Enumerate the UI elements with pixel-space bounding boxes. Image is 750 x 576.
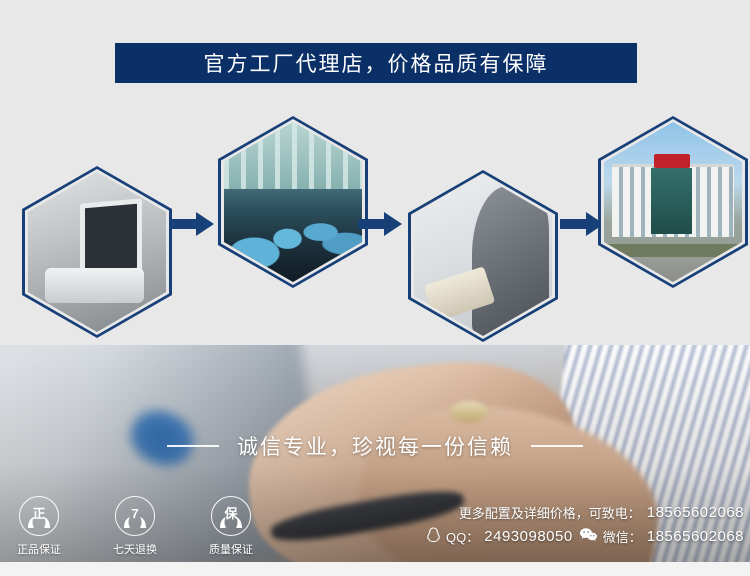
badge-circle: 7	[115, 496, 155, 536]
promo-page: 官方工厂代理店，价格品质有保障	[0, 0, 750, 576]
badge-label: 正品保证	[17, 541, 61, 557]
trust-section: 诚信专业，珍视每一份信赖 正 正品保证 7	[0, 345, 750, 562]
contact-qq-number: 2493098050	[484, 528, 572, 545]
header-banner: 官方工厂代理店，价格品质有保障	[115, 43, 637, 83]
badge-return: 7 七天退换	[106, 496, 164, 557]
contact-phone-label: 更多配置及详细价格，可致电：	[459, 503, 641, 522]
slogan-rule-right	[531, 445, 583, 447]
flow-step-office	[408, 170, 558, 342]
contact-wechat-label: 微信：	[603, 527, 642, 546]
arrow-right-icon	[170, 210, 214, 238]
bottom-strip	[0, 562, 750, 576]
contact-phone-line: 更多配置及详细价格，可致电： 18565602068	[459, 503, 744, 522]
badge-circle: 保	[211, 496, 251, 536]
slogan-text: 诚信专业，珍视每一份信赖	[237, 431, 513, 461]
guarantee-badges: 正 正品保证 7	[0, 496, 260, 557]
hands-holding-icon	[26, 516, 52, 529]
flow-step-factory	[218, 116, 368, 288]
slogan-rule-left	[167, 445, 219, 447]
building-foreground	[604, 244, 742, 282]
badge-genuine: 正 正品保证	[10, 496, 68, 557]
hands-holding-icon	[122, 516, 148, 529]
badge-quality: 保 质量保证	[202, 496, 260, 557]
slogan-row: 诚信专业，珍视每一份信赖	[0, 431, 750, 461]
hands-holding-icon	[218, 516, 244, 529]
contact-info: 更多配置及详细价格，可致电： 18565602068 QQ： 249309805…	[426, 503, 744, 546]
contact-qq[interactable]: QQ： 2493098050	[426, 527, 573, 546]
process-flow	[0, 100, 750, 320]
contact-qq-label: QQ：	[446, 527, 479, 546]
badge-circle: 正	[19, 496, 59, 536]
flow-step-building	[598, 116, 748, 288]
page-title: 官方工厂代理店，价格品质有保障	[204, 48, 549, 78]
qq-penguin-icon	[426, 527, 441, 546]
arrow-right-icon	[358, 210, 402, 238]
contact-wechat[interactable]: 微信： 18565602068	[579, 527, 744, 546]
badge-label: 七天退换	[113, 541, 157, 557]
contact-phone-number[interactable]: 18565602068	[647, 504, 744, 521]
badge-label: 质量保证	[209, 541, 253, 557]
wechat-icon	[579, 527, 598, 546]
flow-step-equipment	[22, 166, 172, 338]
building-glass-facade	[651, 168, 692, 234]
contact-wechat-number: 18565602068	[647, 528, 744, 545]
contact-im-line: QQ： 2493098050 微信：	[426, 527, 744, 546]
